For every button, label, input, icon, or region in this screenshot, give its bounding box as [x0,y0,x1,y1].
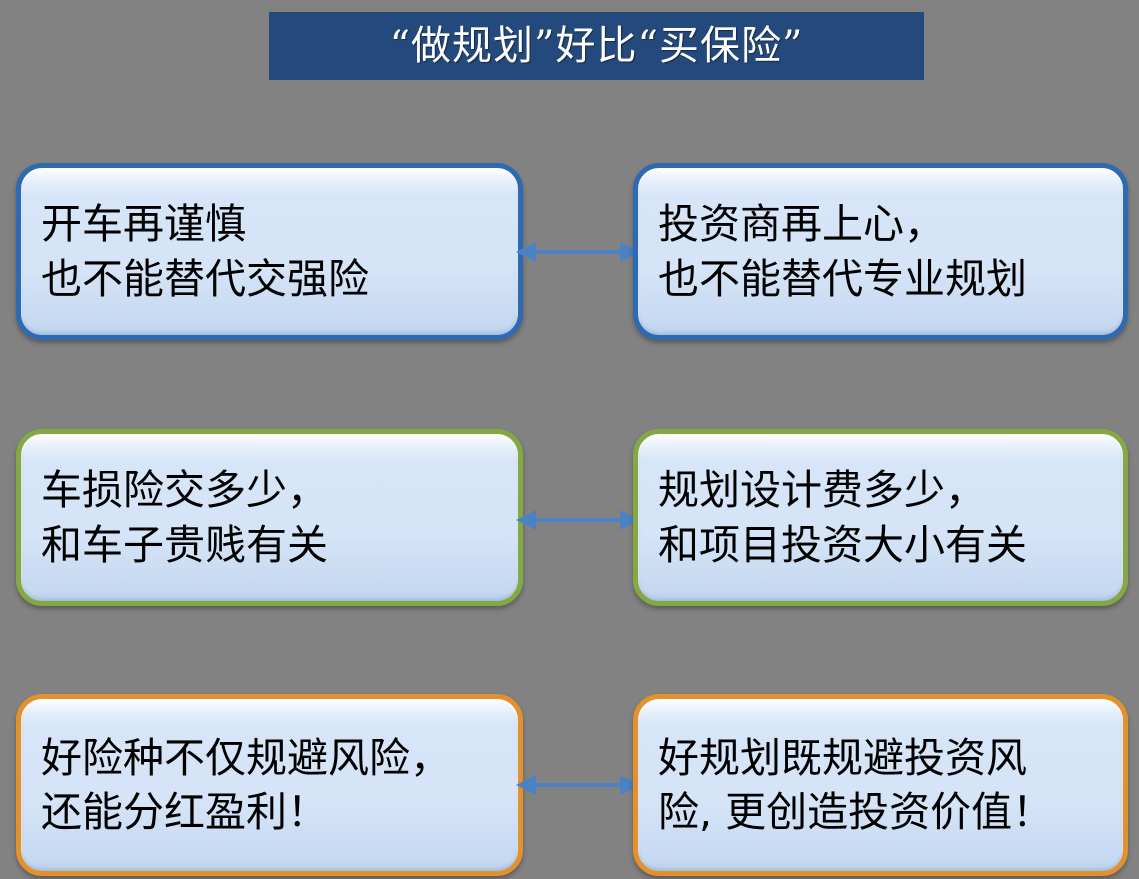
comparison-box-row3-right: 好规划既规避投资风 险, 更创造投资价值！ [633,694,1128,876]
box-line-1: 投资商再上心， [658,197,1109,251]
box-line-2: 也不能替代交强险 [41,252,504,306]
box-line-2: 和车子贵贱有关 [41,518,504,572]
slide-title-text: “做规划”好比“买保险” [390,26,804,66]
comparison-box-row2-right: 规划设计费多少， 和项目投资大小有关 [633,429,1128,606]
box-line-1: 好险种不仅规避风险， [41,731,504,785]
comparison-box-row3-left: 好险种不仅规避风险， 还能分红盈利！ [16,694,523,876]
box-line-1: 车损险交多少， [41,463,504,517]
box-text-block: 开车再谨慎 也不能替代交强险 [41,197,504,305]
box-text-block: 规划设计费多少， 和项目投资大小有关 [658,463,1109,571]
box-line-2: 还能分红盈利！ [41,785,504,839]
comparison-box-row1-left: 开车再谨慎 也不能替代交强险 [16,163,523,340]
box-line-1: 开车再谨慎 [41,197,504,251]
slide-canvas: “做规划”好比“买保险” 开车再谨慎 也不能替代交强险 投资商再上心， 也不能替… [0,0,1139,879]
double-headed-arrow-icon [516,235,640,269]
comparison-box-row2-left: 车损险交多少， 和车子贵贱有关 [16,429,523,606]
box-line-1: 规划设计费多少， [658,463,1109,517]
connector-arrow-row2 [516,503,640,537]
box-line-2: 和项目投资大小有关 [658,518,1109,572]
double-headed-arrow-icon [516,768,640,802]
box-line-1: 好规划既规避投资风 [658,731,1109,785]
double-headed-arrow-icon [516,503,640,537]
box-text-block: 车损险交多少， 和车子贵贱有关 [41,463,504,571]
box-text-block: 投资商再上心， 也不能替代专业规划 [658,197,1109,305]
connector-arrow-row3 [516,768,640,802]
slide-title-banner: “做规划”好比“买保险” [269,12,924,80]
comparison-box-row1-right: 投资商再上心， 也不能替代专业规划 [633,163,1128,340]
connector-arrow-row1 [516,235,640,269]
box-line-2: 险, 更创造投资价值！ [658,785,1109,839]
box-line-2: 也不能替代专业规划 [658,252,1109,306]
box-text-block: 好规划既规避投资风 险, 更创造投资价值！ [658,731,1109,839]
box-text-block: 好险种不仅规避风险， 还能分红盈利！ [41,731,504,839]
